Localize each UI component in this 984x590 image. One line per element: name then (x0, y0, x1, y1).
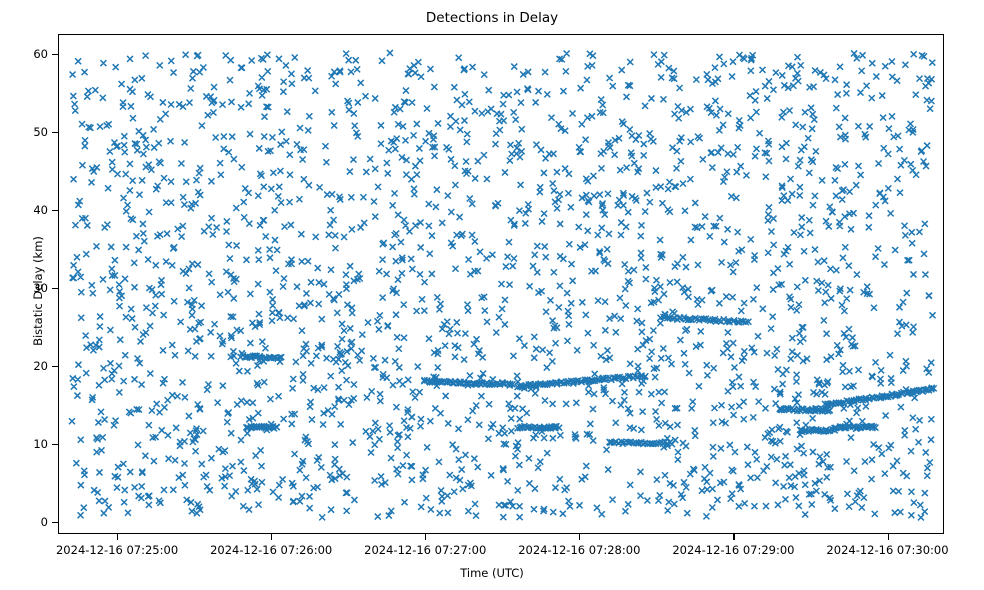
plot-axes (58, 34, 944, 534)
x-tick-label: 2024-12-16 07:30:00 (826, 543, 948, 557)
scatter-marker-set (69, 50, 937, 521)
y-axis-label: Bistatic Delay (km) (31, 141, 45, 441)
x-axis-label: Time (UTC) (0, 566, 984, 580)
y-tick-mark (52, 132, 58, 133)
page-title: Detections in Delay (0, 10, 984, 26)
x-tick-mark (579, 534, 580, 540)
y-tick-mark (52, 444, 58, 445)
x-tick-mark (117, 534, 118, 540)
x-tick-mark (733, 534, 734, 540)
y-tick-mark (52, 54, 58, 55)
y-tick-mark (52, 210, 58, 211)
x-tick-mark (425, 534, 426, 540)
figure-canvas: Detections in Delay 0102030405060 Bistat… (0, 0, 984, 590)
x-tick-mark (271, 534, 272, 540)
y-axis-label-wrap: Bistatic Delay (km) (10, 34, 30, 534)
x-tick-label: 2024-12-16 07:28:00 (518, 543, 640, 557)
x-tick-mark (888, 534, 889, 540)
x-tick-label: 2024-12-16 07:25:00 (56, 543, 178, 557)
x-tick-label: 2024-12-16 07:29:00 (672, 543, 794, 557)
scatter-points-layer (59, 35, 943, 533)
y-tick-mark (52, 366, 58, 367)
y-tick-mark (52, 288, 58, 289)
x-tick-label: 2024-12-16 07:27:00 (364, 543, 486, 557)
y-tick-mark (52, 522, 58, 523)
x-tick-label: 2024-12-16 07:26:00 (210, 543, 332, 557)
